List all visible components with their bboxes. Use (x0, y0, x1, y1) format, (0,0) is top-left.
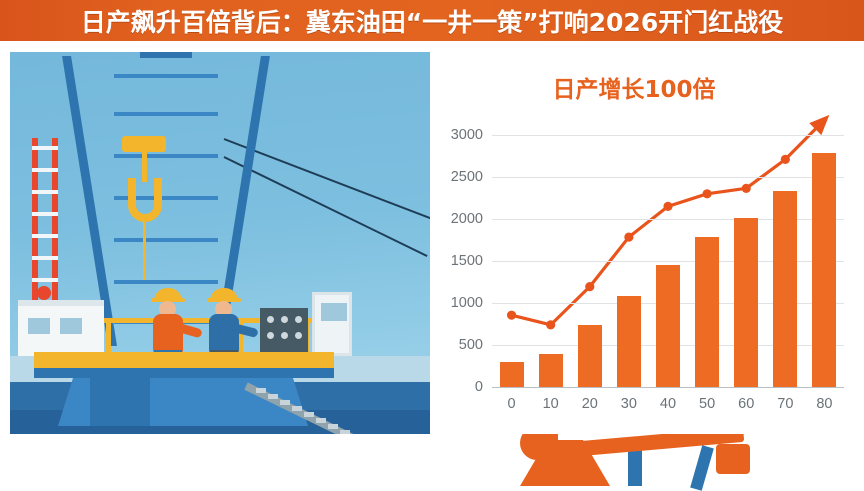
line-marker (663, 202, 672, 211)
x-axis-tick-label: 30 (621, 396, 637, 412)
x-axis-tick-label: 50 (699, 396, 715, 412)
worker-torso (153, 314, 183, 354)
x-axis-tick-label: 80 (816, 396, 832, 412)
warning-light-icon (37, 286, 51, 300)
stair-step (268, 394, 278, 399)
mast-step (32, 278, 58, 282)
bar (812, 153, 836, 387)
derrick-rung (114, 112, 218, 116)
x-axis-tick-label: 60 (738, 396, 754, 412)
x-axis-tick-label: 10 (543, 396, 559, 412)
hard-hat-icon (210, 288, 238, 301)
y-axis-tick-label: 2500 (451, 169, 483, 185)
bar (695, 237, 719, 387)
stair-step (316, 418, 326, 423)
machine-knob (267, 332, 274, 339)
line-marker (703, 189, 712, 198)
derrick-rung (114, 154, 218, 158)
mast-step (32, 190, 58, 194)
machine-knob (267, 316, 274, 323)
line-marker (507, 311, 516, 320)
stair-step (280, 400, 290, 405)
white-control-cabin (18, 300, 104, 356)
pumpjack-counterweight (716, 444, 750, 474)
stair-step (292, 406, 302, 411)
derrick-rung (114, 74, 218, 78)
daily-production-chart: 日产增长100倍 0500100015002000250030000102030… (436, 52, 860, 434)
bar (734, 218, 758, 387)
mast-step (32, 212, 58, 216)
line-marker (585, 282, 594, 291)
derrick-rung (114, 280, 218, 284)
pumpjack-crank-arm (690, 445, 714, 491)
derrick-rung (114, 238, 218, 242)
machine-knob (295, 332, 302, 339)
rig-substructure-core (90, 378, 150, 426)
x-axis-tick-label: 0 (508, 396, 516, 412)
hard-hat-icon (154, 288, 182, 301)
cabin-window (60, 318, 82, 334)
bar (578, 325, 602, 387)
platform-deck (34, 352, 334, 368)
stair-step (328, 424, 338, 429)
line-marker (546, 320, 555, 329)
machine-knob (295, 316, 302, 323)
page-title: 日产飙升百倍背后：冀东油田“一井一策”打响2026开门红战役 (81, 3, 783, 39)
y-axis-tick-label: 0 (475, 379, 483, 395)
cabinet-screen (321, 303, 347, 321)
platform-deck-edge (34, 368, 334, 378)
worker-blue-coveralls (206, 288, 248, 356)
gridline: 2500 (492, 177, 844, 178)
oil-drilling-rig-illustration (10, 52, 430, 434)
stair-step (340, 430, 350, 434)
y-axis-tick-label: 2000 (451, 211, 483, 227)
pumpjack (520, 430, 770, 486)
stair-step (256, 388, 266, 393)
line-marker (742, 184, 751, 193)
y-axis-tick-label: 500 (459, 337, 483, 353)
cabin-window (28, 318, 50, 334)
machine-knob (281, 316, 288, 323)
x-axis-tick-label: 70 (777, 396, 793, 412)
x-axis-tick-label: 40 (660, 396, 676, 412)
mast-step (32, 234, 58, 238)
axis-baseline: 0 (492, 387, 844, 388)
machine-knob (281, 332, 288, 339)
chart-plot-area: 0500100015002000250030000102030405060708… (492, 130, 844, 387)
crane-hook-icon (128, 178, 162, 222)
mast-step (32, 256, 58, 260)
derrick-crown (140, 52, 192, 58)
bar (617, 296, 641, 387)
y-axis-tick-label: 3000 (451, 127, 483, 143)
crane-block (122, 136, 166, 152)
mast-step (32, 168, 58, 172)
bar (773, 191, 797, 387)
line-marker (624, 232, 633, 241)
y-axis-tick-label: 1000 (451, 295, 483, 311)
gridline: 3000 (492, 135, 844, 136)
worker-torso (209, 314, 239, 354)
title-banner: 日产飙升百倍背后：冀东油田“一井一策”打响2026开门红战役 (0, 0, 864, 41)
railing-post (106, 318, 111, 354)
x-axis-tick-label: 20 (582, 396, 598, 412)
crane-line (143, 220, 146, 280)
stair-step (304, 412, 314, 417)
grey-machinery-unit (260, 308, 308, 356)
y-axis-tick-label: 1500 (451, 253, 483, 269)
bar (500, 362, 524, 387)
bar (539, 354, 563, 387)
bar (656, 265, 680, 387)
worker-orange-coveralls (150, 288, 190, 356)
mast-step (32, 146, 58, 150)
control-cabinet (312, 292, 352, 356)
line-marker (781, 155, 790, 164)
